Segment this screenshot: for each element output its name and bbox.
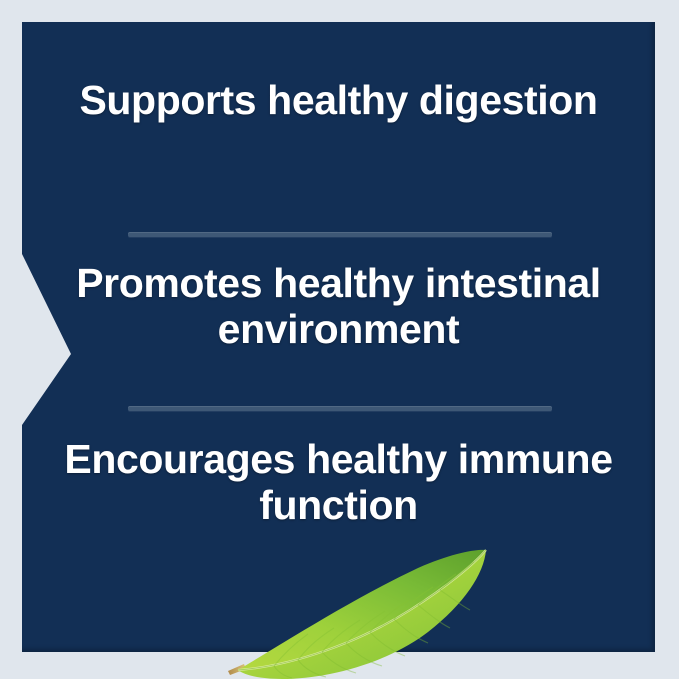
benefit-item-digestion: Supports healthy digestion	[22, 78, 655, 124]
benefit-item-immune: Encourages healthy immune function	[22, 437, 655, 529]
benefit-divider-1	[128, 232, 552, 237]
benefits-content: Supports healthy digestion Promotes heal…	[22, 22, 655, 652]
benefit-item-intestinal: Promotes healthy intestinal environment	[22, 261, 655, 353]
benefit-divider-2	[128, 406, 552, 411]
benefits-card: Supports healthy digestion Promotes heal…	[0, 0, 679, 679]
